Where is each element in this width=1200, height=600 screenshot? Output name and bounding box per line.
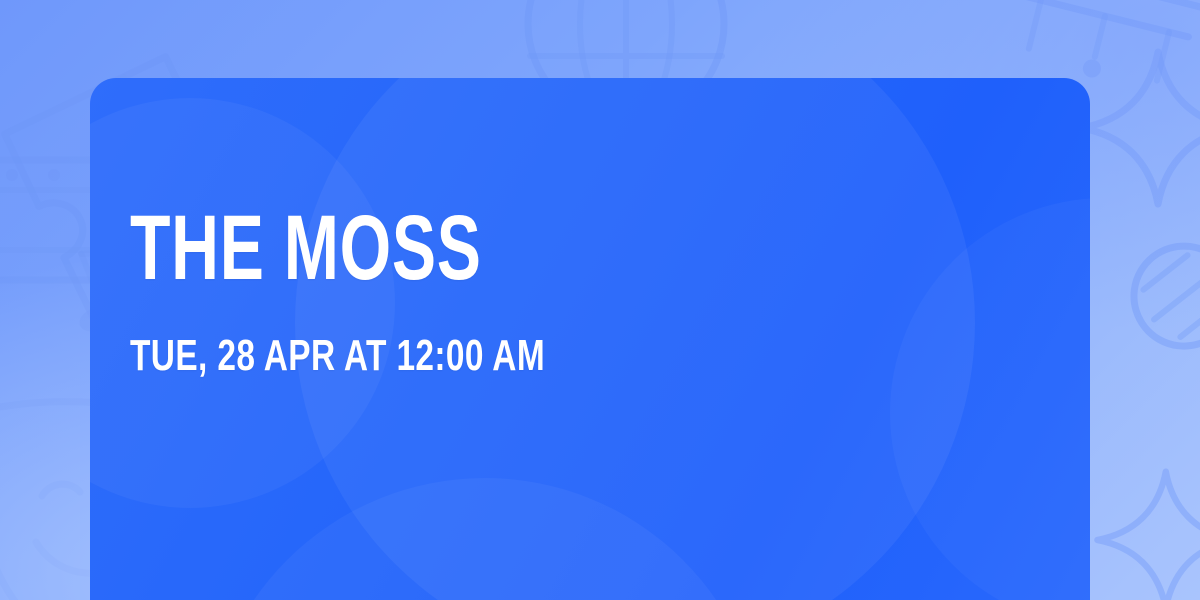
event-card-content: THE MOSS TUE, 28 APR AT 12:00 AM bbox=[130, 200, 950, 380]
sparkle-icon bbox=[1097, 472, 1200, 600]
microphone-icon bbox=[1114, 226, 1200, 399]
event-banner: THE MOSS TUE, 28 APR AT 12:00 AM bbox=[0, 0, 1200, 600]
sparkle-icon bbox=[1082, 52, 1200, 204]
event-title: THE MOSS bbox=[130, 200, 720, 296]
event-card[interactable]: THE MOSS TUE, 28 APR AT 12:00 AM bbox=[90, 78, 1090, 600]
decorative-circle bbox=[205, 478, 765, 600]
event-datetime: TUE, 28 APR AT 12:00 AM bbox=[130, 332, 753, 380]
